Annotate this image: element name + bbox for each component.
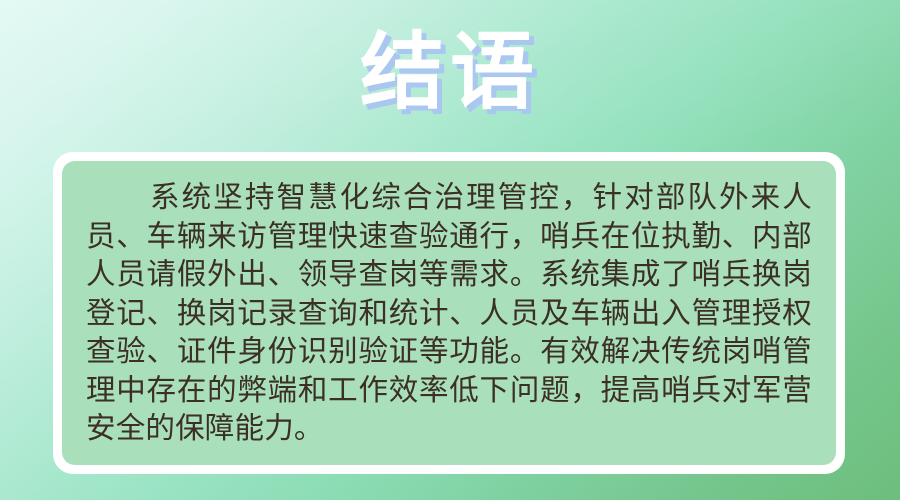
slide-root: 结语 系统坚持智慧化综合治理管控，针对部队外来人员、车辆来访管理快速查验通行，哨… — [0, 0, 900, 500]
title-area: 结语 — [0, 8, 900, 136]
content-card-panel: 系统坚持智慧化综合治理管控，针对部队外来人员、车辆来访管理快速查验通行，哨兵在位… — [62, 161, 836, 465]
body-paragraph: 系统坚持智慧化综合治理管控，针对部队外来人员、车辆来访管理快速查验通行，哨兵在位… — [86, 179, 812, 449]
content-card: 系统坚持智慧化综合治理管控，针对部队外来人员、车辆来访管理快速查验通行，哨兵在位… — [53, 152, 845, 474]
page-title: 结语 — [360, 30, 540, 114]
